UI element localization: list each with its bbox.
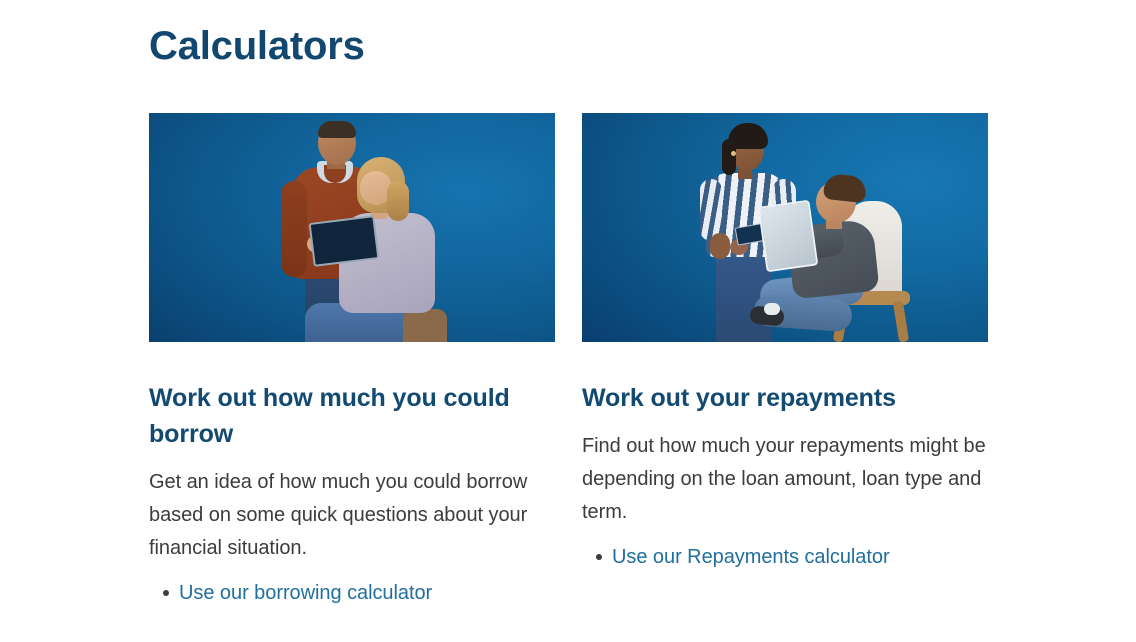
card-title: Work out your repayments — [582, 380, 988, 416]
list-item: Use our Repayments calculator — [612, 541, 988, 573]
photo-tablet — [309, 215, 380, 267]
bullet-icon — [163, 590, 169, 596]
card-body: Work out how much you could borrow Get a… — [149, 342, 555, 609]
card-body: Work out your repayments Find out how mu… — [582, 342, 988, 573]
page-title: Calculators — [149, 20, 365, 72]
card-link-list: Use our Repayments calculator — [582, 541, 988, 573]
calculator-card-grid: Work out how much you could borrow Get a… — [149, 113, 989, 609]
card-description: Get an idea of how much you could borrow… — [149, 466, 555, 565]
borrowing-calculator-link[interactable]: Use our borrowing calculator — [179, 582, 432, 604]
card-description: Find out how much your repayments might … — [582, 430, 988, 529]
borrowing-calculator-photo — [149, 113, 555, 342]
calculators-page: Calculators — [0, 0, 1136, 642]
calculator-card-borrowing: Work out how much you could borrow Get a… — [149, 113, 555, 609]
list-item: Use our borrowing calculator — [179, 577, 555, 609]
photo-figure-seated-man — [768, 185, 918, 342]
repayments-calculator-photo — [582, 113, 988, 342]
card-link-list: Use our borrowing calculator — [149, 577, 555, 609]
card-title: Work out how much you could borrow — [149, 380, 555, 452]
bullet-icon — [596, 554, 602, 560]
calculator-card-repayments: Work out your repayments Find out how mu… — [582, 113, 988, 609]
repayments-calculator-link[interactable]: Use our Repayments calculator — [612, 546, 890, 568]
